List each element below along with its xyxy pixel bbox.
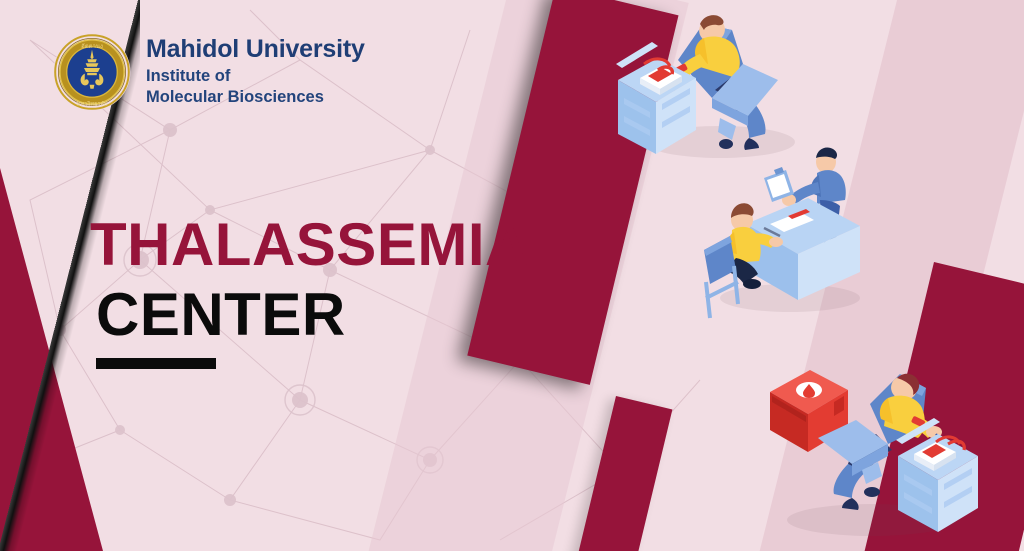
headline-block: THALASSEMIA CENTER: [90, 215, 529, 369]
headline-underline-bar: [96, 358, 216, 369]
maroon-diagonal-strip-lower: [572, 396, 673, 551]
logo-text-block: Mahidol University Institute of Molecula…: [146, 32, 365, 108]
institute-line-2: Molecular Biosciences: [146, 87, 365, 108]
svg-text:มหาวิทยาลัย: มหาวิทยาลัย: [77, 101, 107, 108]
headline-center: CENTER: [96, 285, 529, 345]
svg-text:อัตตานง: อัตตานง: [81, 43, 103, 50]
university-name: Mahidol University: [146, 36, 365, 62]
institute-line-1: Institute of: [146, 66, 365, 87]
thalassemia-center-banner: อัตตานง มหาวิทยาลัย Mahidol University: [0, 0, 1024, 551]
consultation-scene: [690, 132, 880, 327]
blood-donation-scene-bottom: [752, 352, 987, 547]
headline-thalassemia: THALASSEMIA: [90, 215, 529, 275]
mahidol-university-crest-icon: อัตตานง มหาวิทยาลัย: [52, 32, 132, 112]
university-logo-block: อัตตานง มหาวิทยาลัย Mahidol University: [52, 32, 365, 112]
